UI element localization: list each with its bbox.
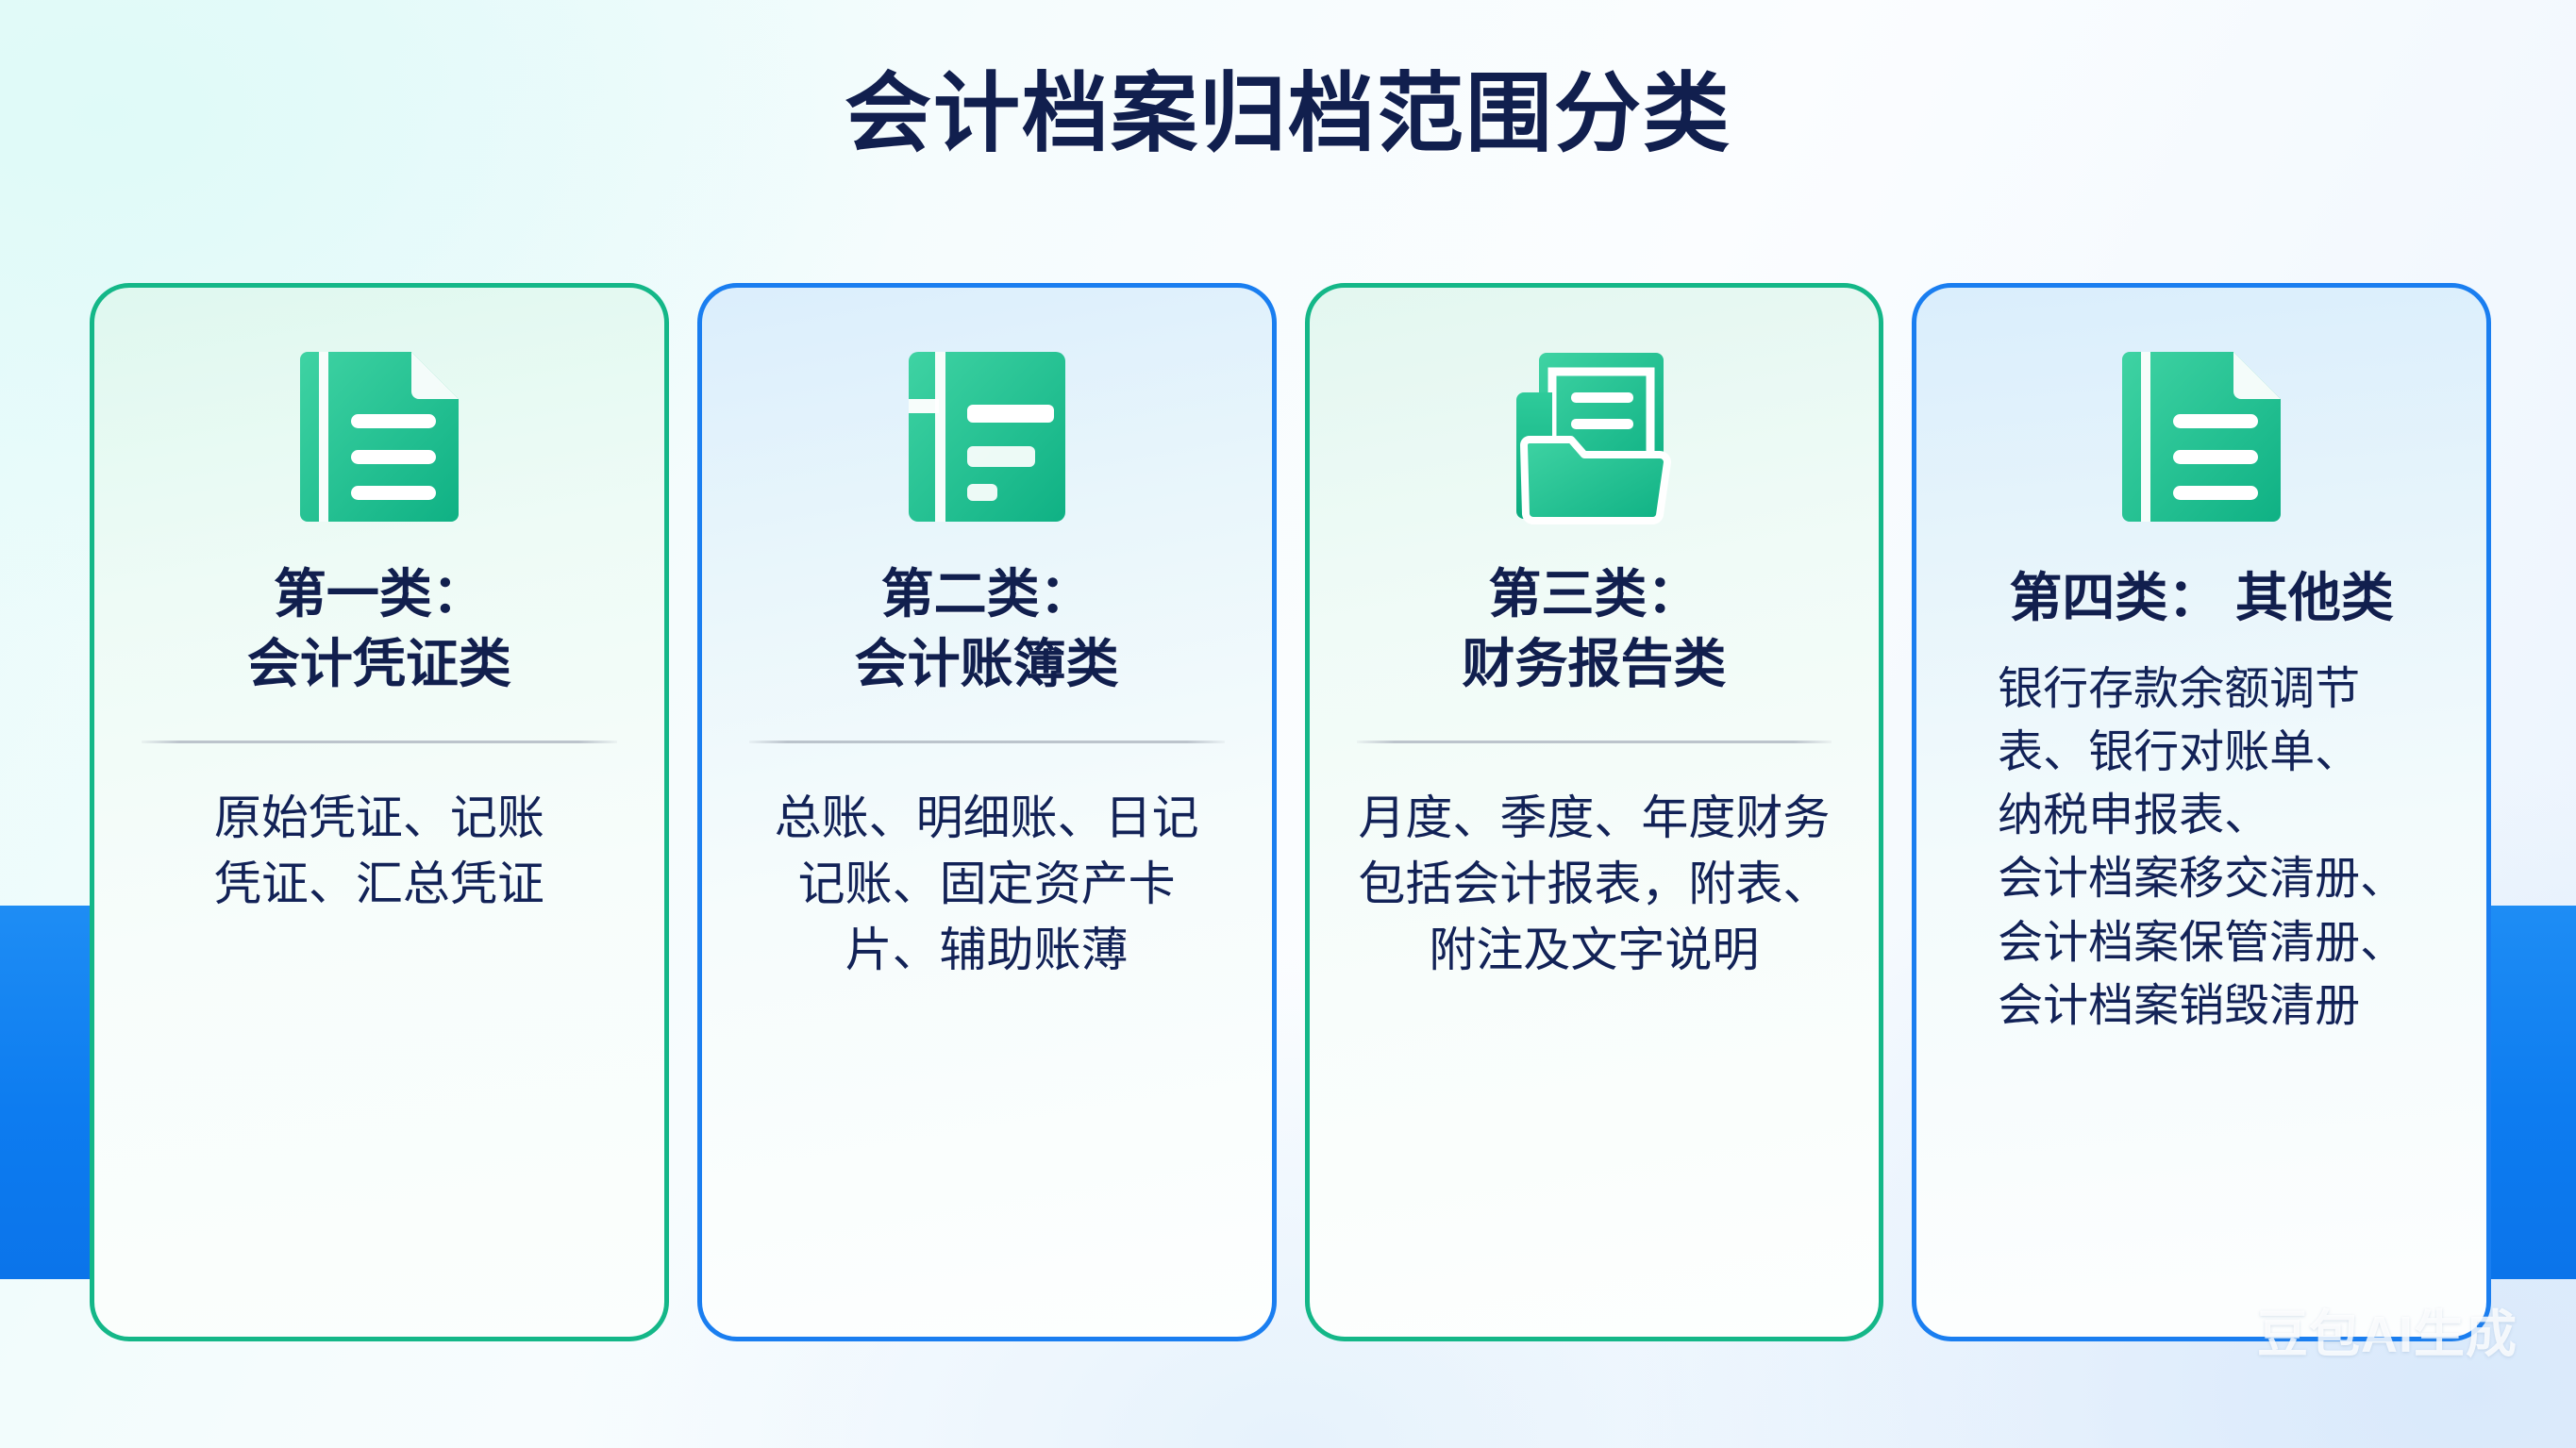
card-heading: 第四类： 其他类 [1986, 563, 2417, 633]
card-heading: 第二类： 会计账簿类 [832, 559, 1142, 699]
card-body-text: 月度、季度、年度财务 包括会计报表，附表、 附注及文字说明 [1324, 785, 1864, 983]
folder-report-icon [1501, 342, 1686, 531]
category-card-1[interactable]: 第一类： 会计凭证类 原始凭证、记账 凭证、汇总凭证 [90, 283, 669, 1341]
card-body-text: 银行存款余额调节 表、银行对账单、 纳税申报表、 会计档案移交清册、 会计档案保… [1969, 657, 2434, 1038]
card-body-text: 总账、明细账、日记 记账、固定资产卡 片、辅助账薄 [741, 785, 1233, 983]
document-lines-icon [294, 342, 464, 531]
card-heading: 第一类： 会计凭证类 [225, 559, 534, 699]
watermark: 豆包AI生成 [2257, 1292, 2517, 1367]
category-card-3[interactable]: 第三类： 财务报告类 月度、季度、年度财务 包括会计报表，附表、 附注及文字说明 [1305, 283, 1884, 1341]
card-heading: 第三类： 财务报告类 [1439, 559, 1748, 699]
page-title: 会计档案归档范围分类 [0, 43, 2576, 169]
ledger-book-icon [903, 342, 1071, 531]
document-lines-icon [2116, 342, 2286, 531]
card-divider [749, 741, 1225, 743]
category-card-2[interactable]: 第二类： 会计账簿类 总账、明细账、日记 记账、固定资产卡 片、辅助账薄 [697, 283, 1277, 1341]
card-divider [142, 741, 617, 743]
category-card-4[interactable]: 第四类： 其他类 银行存款余额调节 表、银行对账单、 纳税申报表、 会计档案移交… [1912, 283, 2491, 1341]
card-divider [1357, 741, 1832, 743]
card-body-text: 原始凭证、记账 凭证、汇总凭证 [180, 785, 578, 917]
category-card-row: 第一类： 会计凭证类 原始凭证、记账 凭证、汇总凭证 [90, 283, 2491, 1341]
